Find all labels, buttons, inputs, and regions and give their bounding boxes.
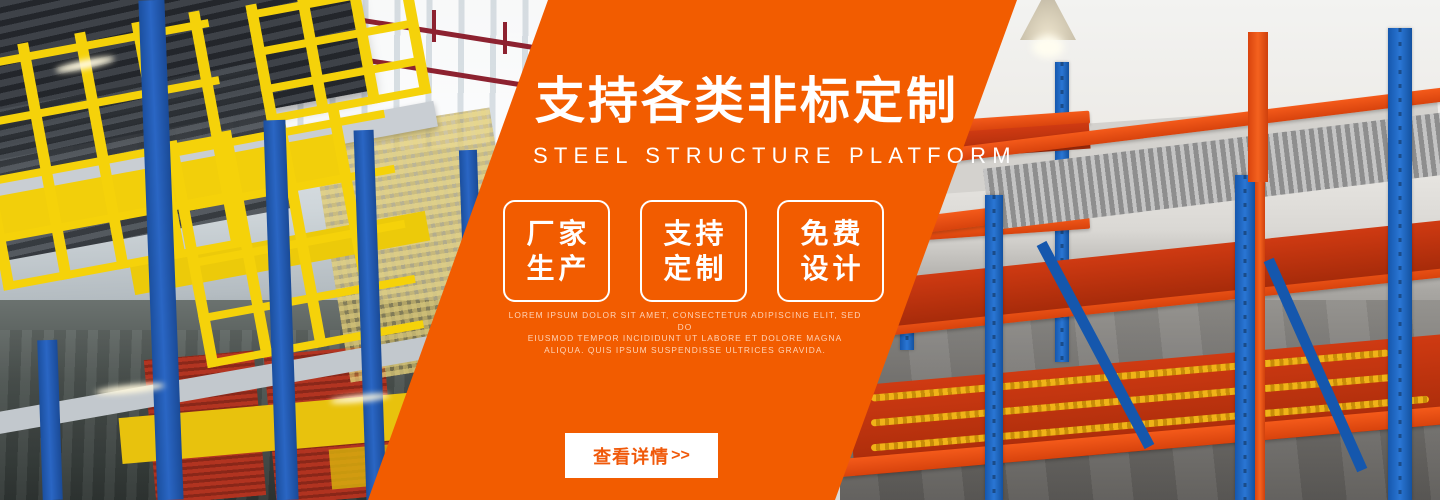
banner-subtitle: STEEL STRUCTURE PLATFORM <box>533 145 1017 167</box>
feature-badge-free-design: 免费 设计 <box>777 200 884 302</box>
description-line-3: ALIQUA. QUIS IPSUM SUSPENDISSE ULTRICES … <box>505 345 865 357</box>
badge-line-1: 支持 <box>659 216 727 251</box>
badge-line-2: 生产 <box>522 251 590 286</box>
view-details-label: 查看详情 <box>593 443 669 469</box>
badge-line-2: 定制 <box>659 251 727 286</box>
view-details-button[interactable]: 查看详情 >> <box>565 433 718 478</box>
badge-line-2: 设计 <box>796 251 864 286</box>
chevron-right-double-icon: >> <box>671 447 690 465</box>
description-line-1: LOREM IPSUM DOLOR SIT AMET, CONSECTETUR … <box>505 310 865 333</box>
promo-banner: 支持各类非标定制 STEEL STRUCTURE PLATFORM 厂家 生产 … <box>0 0 1440 500</box>
feature-badge-group: 厂家 生产 支持 定制 免费 设计 <box>503 200 884 302</box>
banner-content: 支持各类非标定制 STEEL STRUCTURE PLATFORM 厂家 生产 … <box>0 0 1440 500</box>
banner-title: 支持各类非标定制 <box>535 76 959 126</box>
banner-description: LOREM IPSUM DOLOR SIT AMET, CONSECTETUR … <box>505 310 865 356</box>
feature-badge-manufacturer: 厂家 生产 <box>503 200 610 302</box>
feature-badge-customization: 支持 定制 <box>640 200 747 302</box>
badge-line-1: 厂家 <box>522 216 590 251</box>
badge-line-1: 免费 <box>796 216 864 251</box>
description-line-2: EIUSMOD TEMPOR INCIDIDUNT UT LABORE ET D… <box>505 333 865 345</box>
